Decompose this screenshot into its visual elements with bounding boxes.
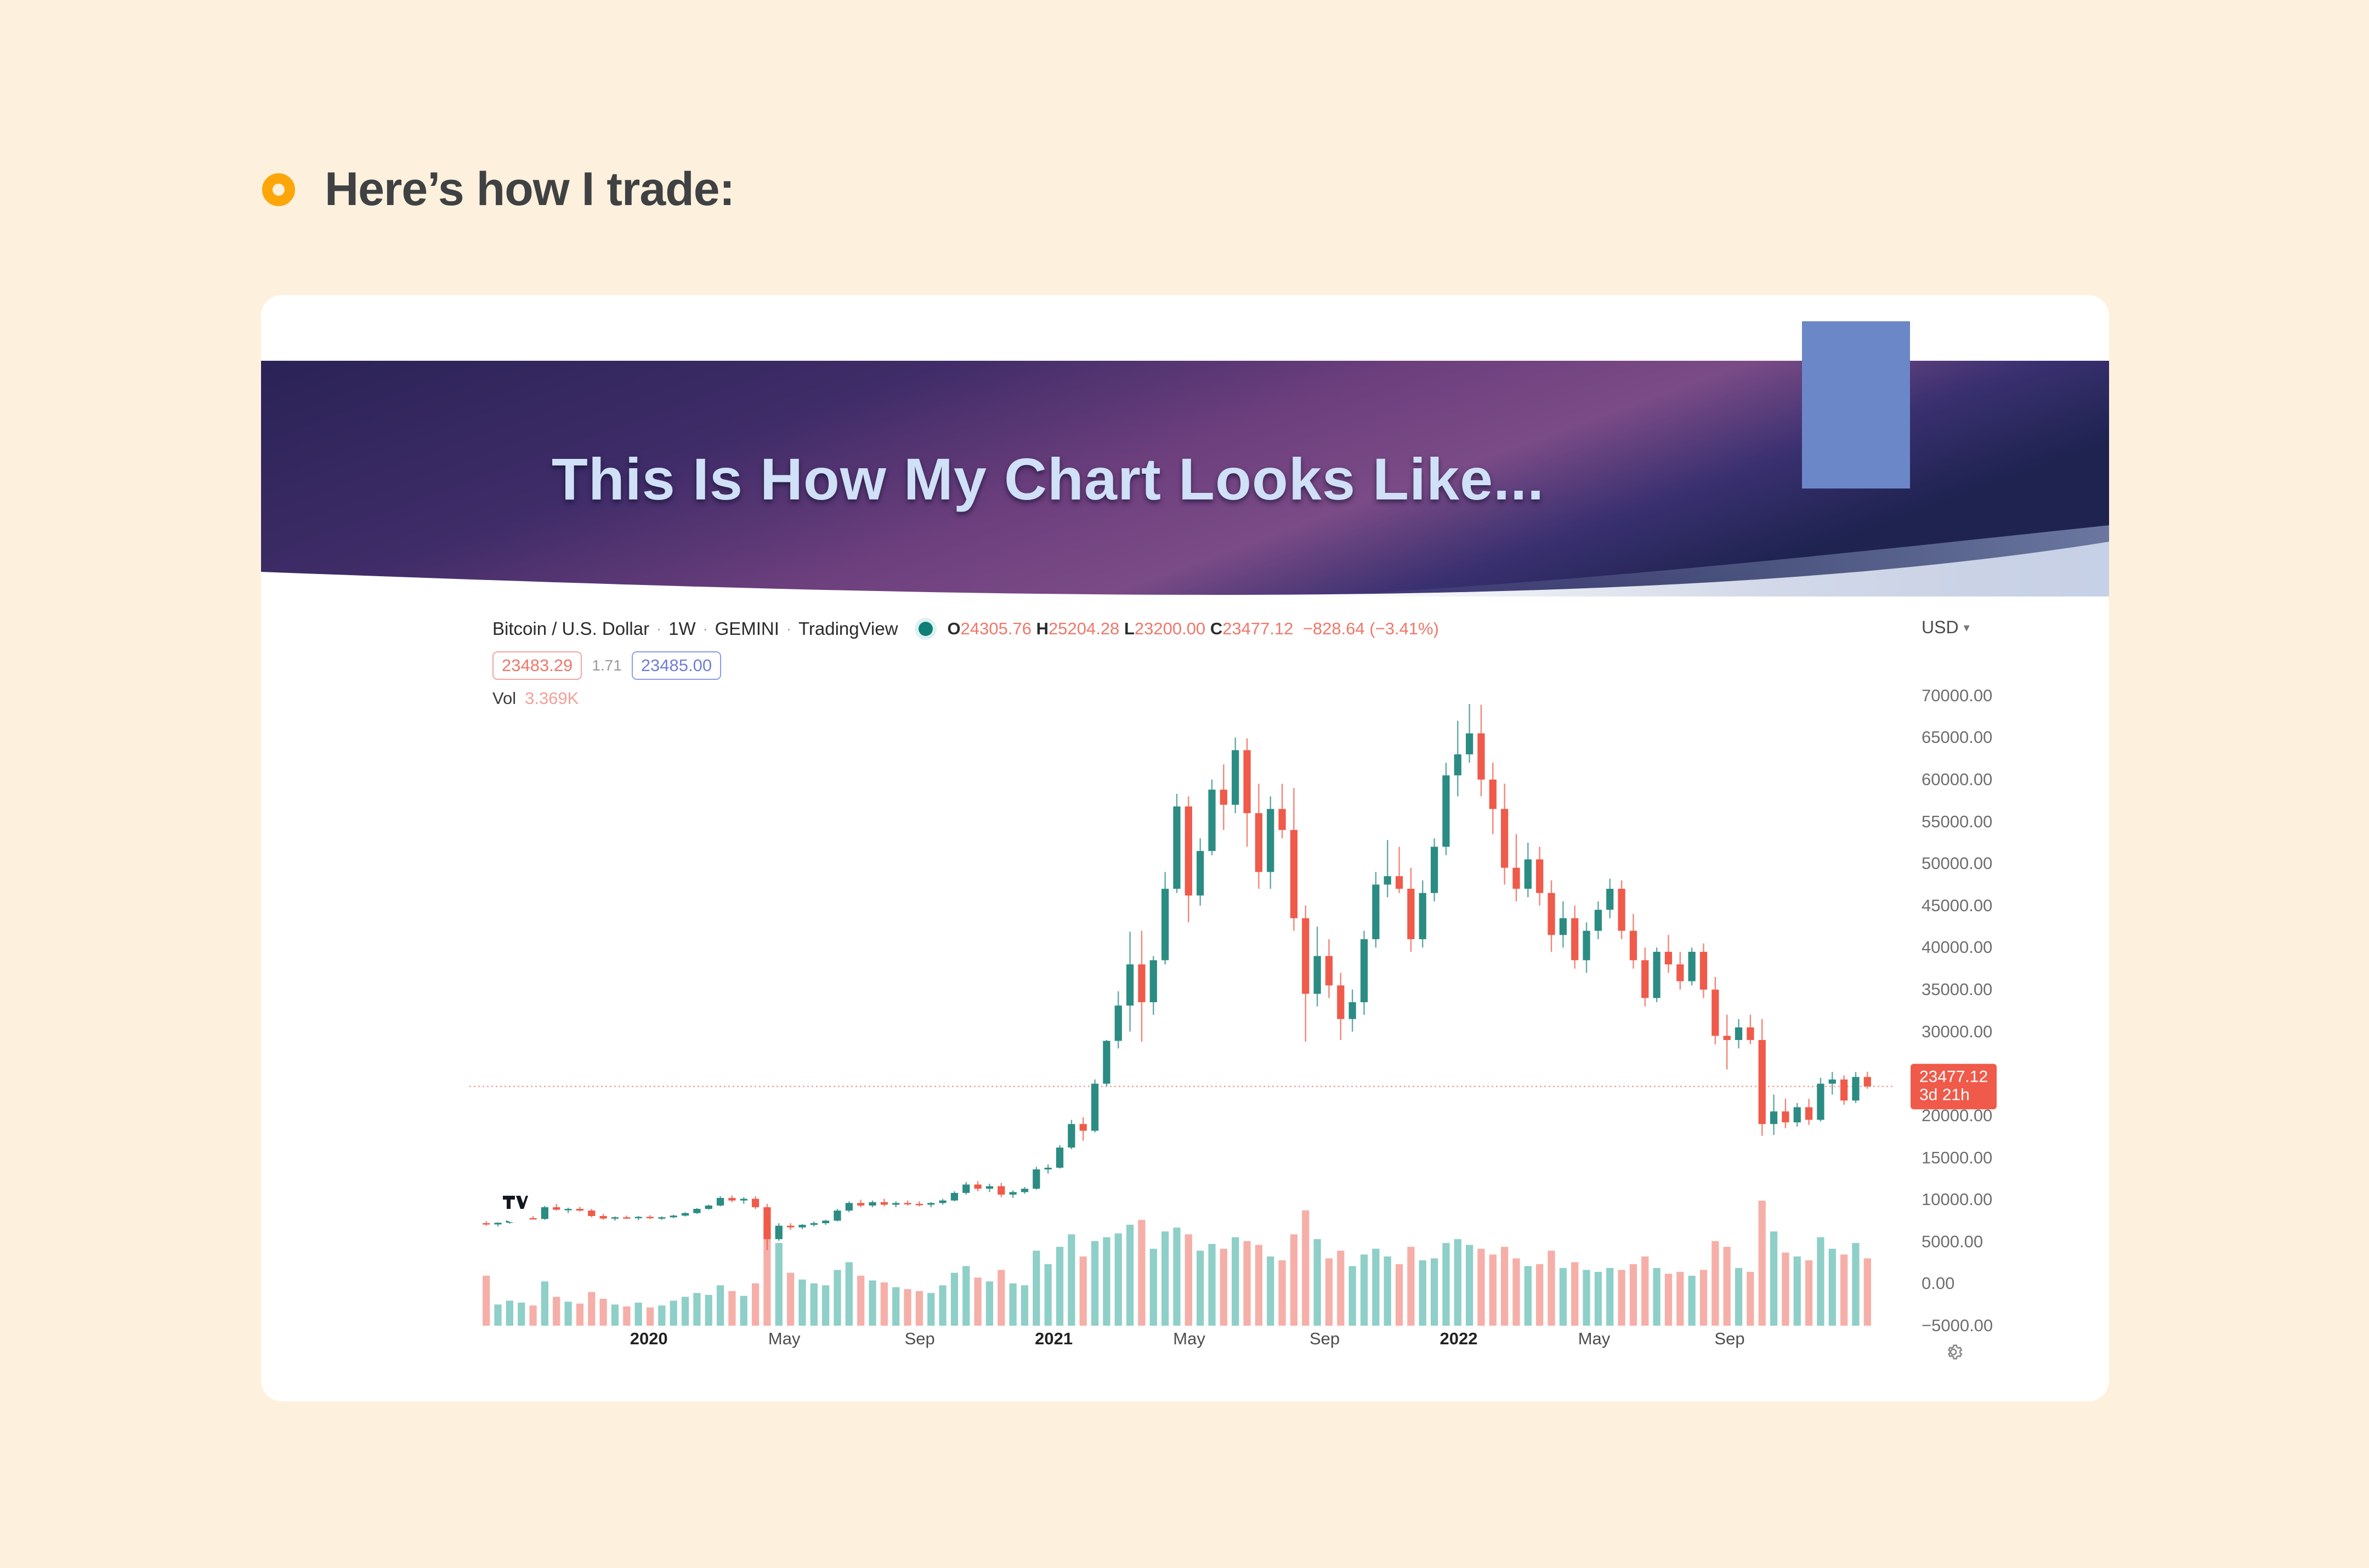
page-root: Here’s how I trade: (0, 0, 2369, 1568)
price-tick-label: 30000.00 (1922, 1022, 1992, 1042)
price-tick-label: 55000.00 (1922, 812, 1992, 832)
price-tick-label: 70000.00 (1922, 686, 1992, 706)
time-tick-label: 2020 (630, 1329, 668, 1349)
price-tick-label: 50000.00 (1922, 854, 1992, 873)
time-tick-label: Sep (1714, 1329, 1744, 1349)
price-tick-label: 15000.00 (1922, 1148, 1992, 1168)
blue-accent-tab (1802, 321, 1910, 488)
price-tick-label: −5000.00 (1922, 1316, 1993, 1336)
price-tick-label: 45000.00 (1922, 896, 1992, 916)
banner: This Is How My Chart Looks Like... (261, 361, 2109, 596)
time-tick-label: Sep (905, 1329, 935, 1349)
badge-price: 23477.12 (1919, 1067, 1988, 1086)
price-tick-label: 0.00 (1922, 1274, 1954, 1293)
tradingview-chart: Bitcoin / U.S. Dollar · 1W · GEMINI · Tr… (469, 618, 2076, 1359)
price-tick-label: 65000.00 (1922, 728, 1992, 747)
time-tick-label: 2021 (1035, 1329, 1073, 1349)
tradingview-logo-icon (496, 1183, 535, 1223)
price-tick-label: 35000.00 (1922, 980, 1992, 999)
price-tick-label: 5000.00 (1922, 1232, 1983, 1252)
time-tick-label: 2022 (1440, 1329, 1478, 1349)
slide-card: This Is How My Chart Looks Like... Bitco… (261, 295, 2109, 1401)
time-tick-label: May (1173, 1329, 1205, 1349)
chevron-down-icon: ▾ (1964, 621, 1970, 635)
price-tick-label: 10000.00 (1922, 1190, 1992, 1209)
price-tick-label: 60000.00 (1922, 770, 1992, 789)
price-tick-label: 40000.00 (1922, 938, 1992, 957)
badge-countdown: 3d 21h (1919, 1086, 1988, 1105)
time-tick-label: Sep (1310, 1329, 1340, 1349)
candlestick-plot[interactable] (469, 618, 1895, 1331)
gear-icon[interactable] (1942, 1341, 1964, 1363)
page-title: Here’s how I trade: (325, 162, 734, 217)
current-price-badge: 23477.12 3d 21h (1911, 1064, 1997, 1109)
page-heading: Here’s how I trade: (262, 162, 734, 217)
time-axis[interactable]: 2020MaySep2021MaySep2022MaySep (469, 1329, 1895, 1362)
ring-bullet-icon (262, 173, 295, 206)
time-tick-label: May (1578, 1329, 1611, 1349)
price-scale[interactable]: USD ▾ 70000.0065000.0060000.0055000.0050… (1895, 618, 2076, 1359)
time-tick-label: May (768, 1329, 801, 1349)
currency-selector[interactable]: USD ▾ (1922, 617, 1970, 638)
currency-label: USD (1922, 617, 1959, 638)
